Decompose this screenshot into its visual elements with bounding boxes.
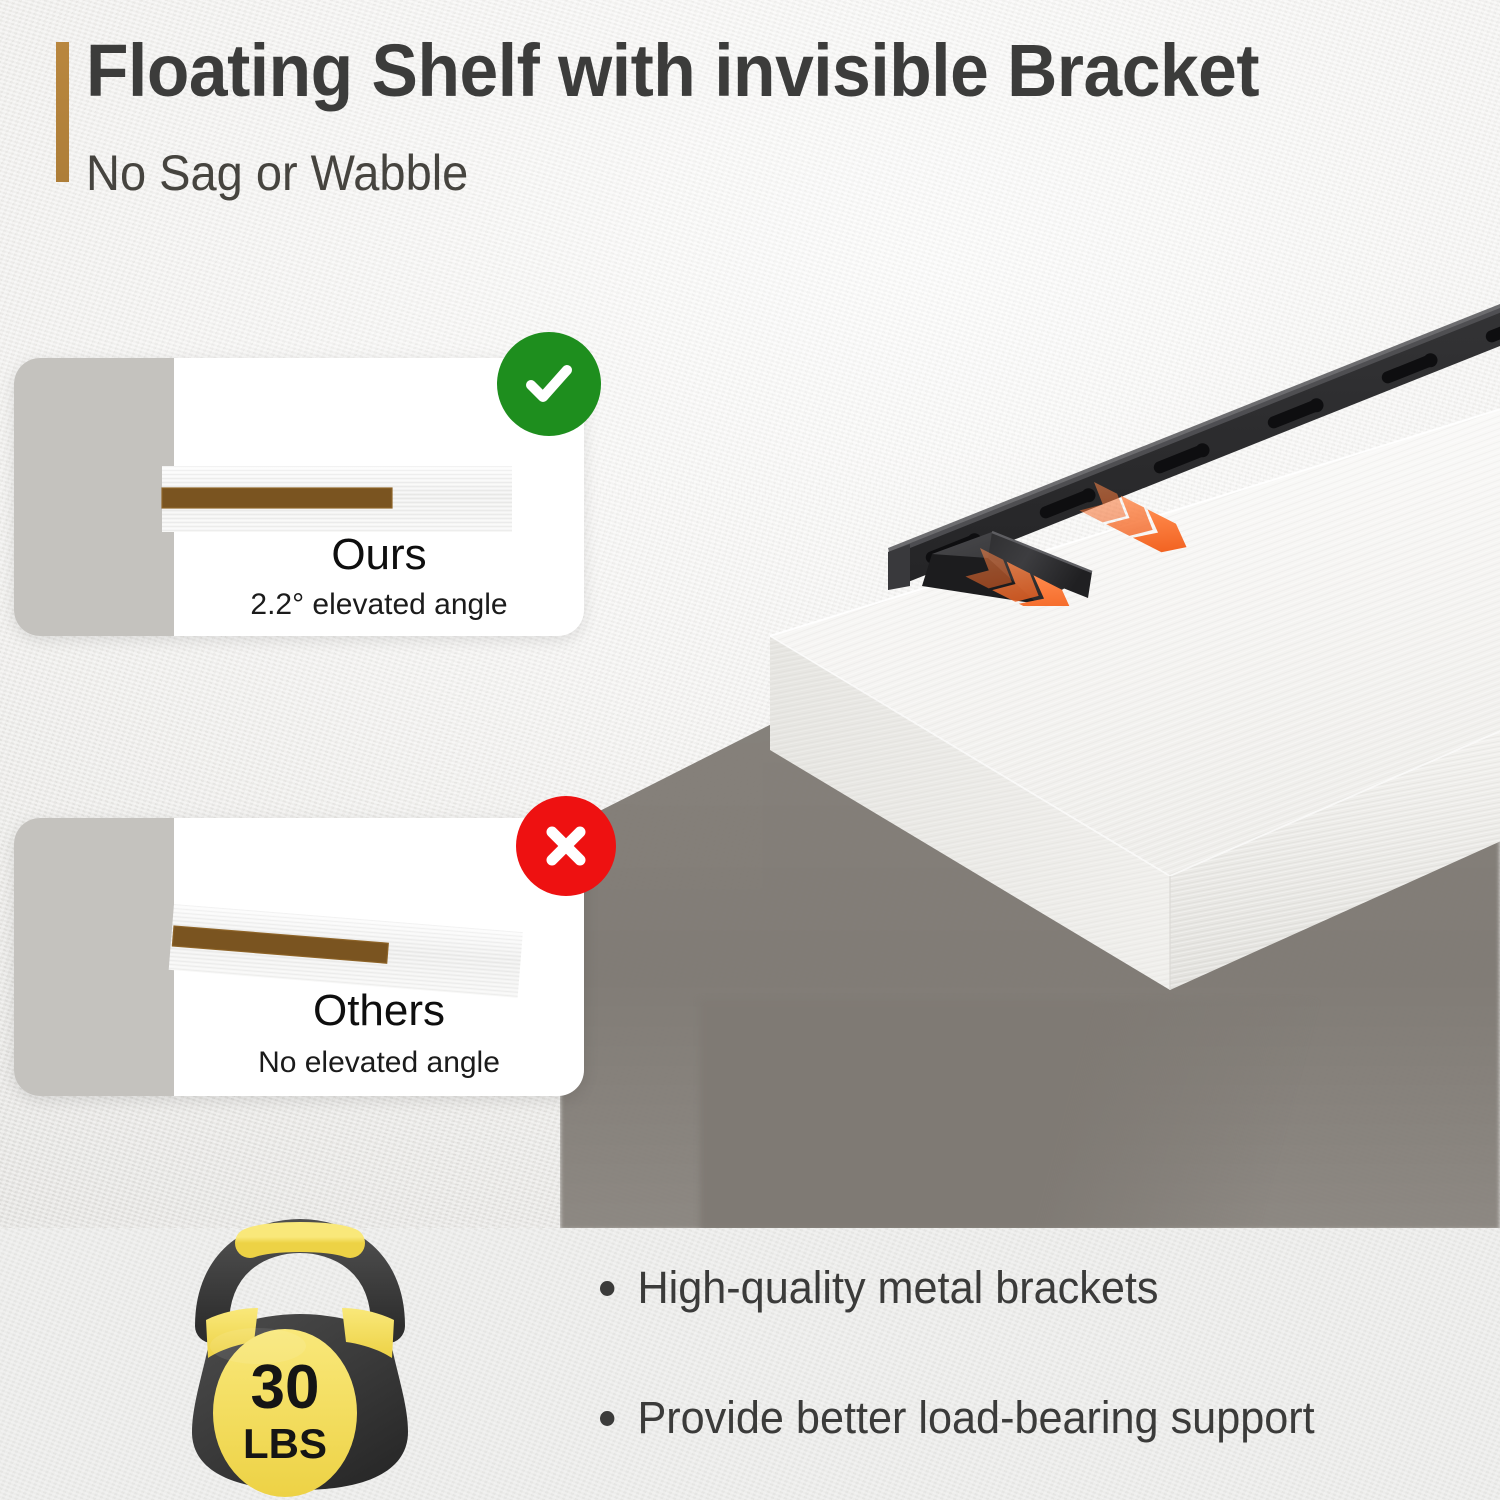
page-subtitle: No Sag or Wabble xyxy=(86,144,468,202)
check-icon xyxy=(497,332,601,436)
accent-bar xyxy=(56,42,69,182)
infographic-canvas: Floating Shelf with invisible Bracket No… xyxy=(0,0,1500,1500)
arrow-chevrons-upper xyxy=(1079,482,1193,561)
feature-bullet-list: High-quality metal brackets Provide bett… xyxy=(600,1262,1500,1444)
others-note: No elevated angle xyxy=(174,1046,584,1080)
kettlebell-icon: 30 LBS xyxy=(150,1218,450,1500)
list-item: Provide better load-bearing support xyxy=(600,1392,1464,1444)
bullet-dot-icon xyxy=(600,1281,614,1296)
list-item: High-quality metal brackets xyxy=(600,1262,1464,1314)
bullet-text: High-quality metal brackets xyxy=(637,1262,1158,1314)
capacity-unit-text: LBS xyxy=(243,1420,327,1467)
bullet-text: Provide better load-bearing support xyxy=(637,1392,1314,1444)
cross-icon xyxy=(516,796,616,896)
bullet-dot-icon xyxy=(600,1411,614,1426)
page-title: Floating Shelf with invisible Bracket xyxy=(86,28,1259,113)
ours-label: Ours xyxy=(174,530,584,580)
others-label: Others xyxy=(174,986,584,1036)
insertion-arrow-group xyxy=(880,286,1500,606)
comparison-card-others: Others No elevated angle xyxy=(14,818,584,1096)
arrow-chevrons-lower xyxy=(965,548,1079,606)
ours-note: 2.2° elevated angle xyxy=(174,588,584,622)
